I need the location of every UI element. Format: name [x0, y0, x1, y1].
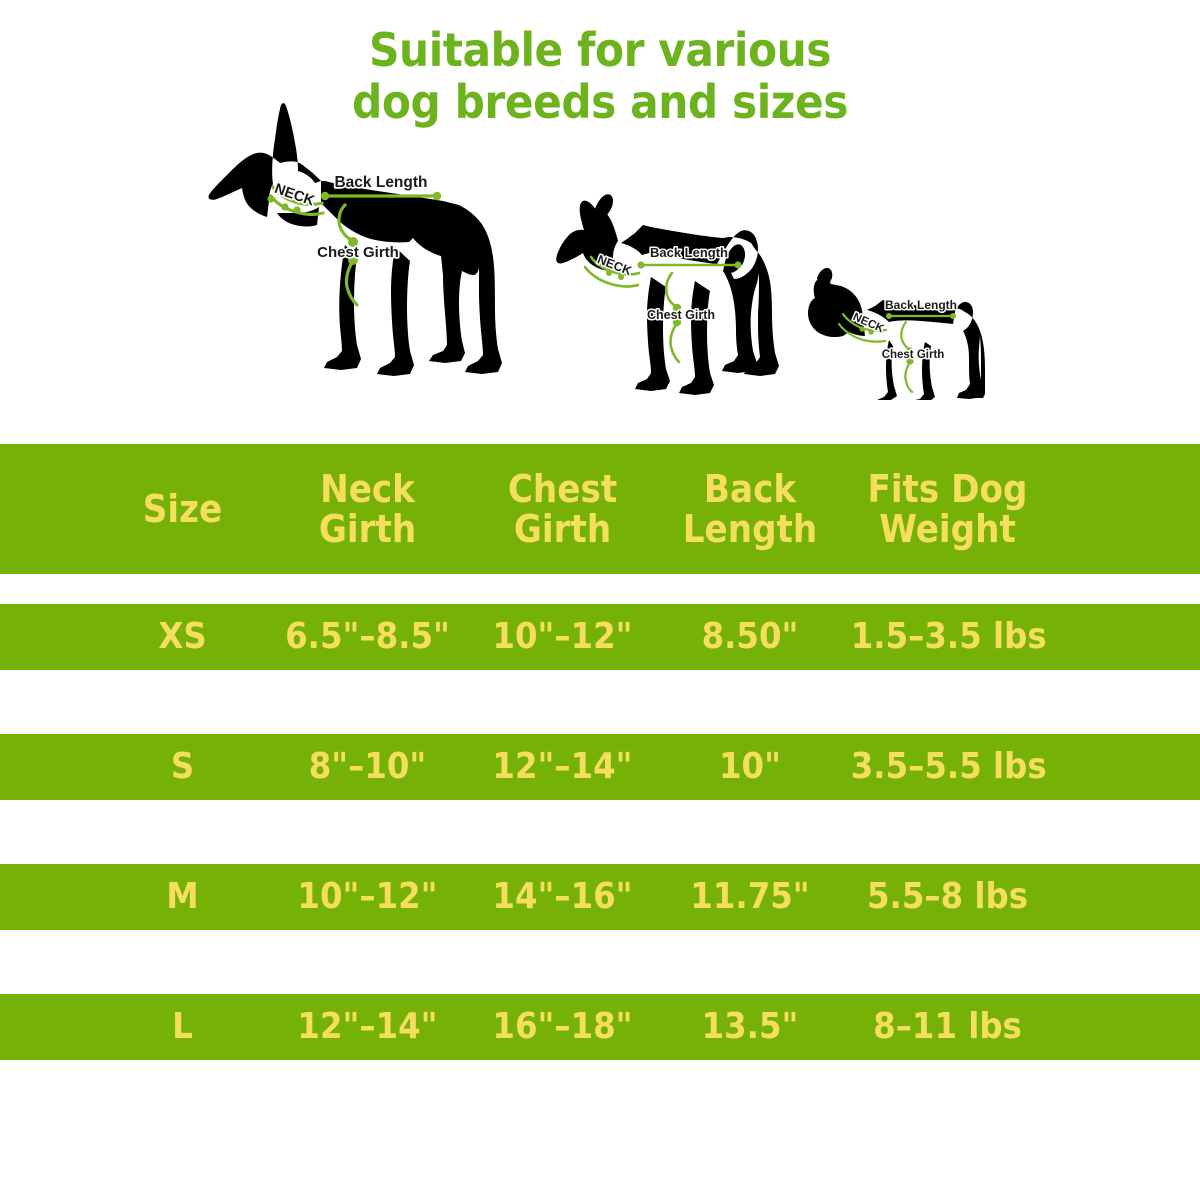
- cell-size: M: [104, 878, 262, 916]
- cell-size: XS: [104, 618, 262, 656]
- cell-fits-dog-weight: 1.5–3.5 lbs: [851, 618, 1045, 656]
- small-dog-back-length-label: Back Length: [885, 298, 957, 312]
- header-weight-line-2: Weight: [851, 509, 1045, 549]
- dog-illustrations: Back Length Chest Girth NECK: [0, 90, 1200, 410]
- cell-back-length: 10": [669, 748, 831, 786]
- header-weight-line-1: Fits Dog: [851, 469, 1045, 509]
- header-back-line-1: Back: [669, 469, 831, 509]
- cell-back-length: 11.75": [669, 878, 831, 916]
- cell-chest-girth: 16"–18": [475, 1008, 651, 1046]
- header-back-line-2: Length: [669, 509, 831, 549]
- table-header-row: Size Neck Girth Chest Girth Back Length …: [0, 444, 1200, 574]
- cell-neck-girth: 8"–10": [280, 748, 456, 786]
- medium-dog-chest-girth-label: Chest Girth: [647, 308, 715, 322]
- cell-neck-girth: 10"–12": [280, 878, 456, 916]
- header-neck-line-1: Neck: [280, 469, 456, 509]
- size-chart-table: Size Neck Girth Chest Girth Back Length …: [0, 444, 1200, 1060]
- large-dog-back-length-label: Back Length: [334, 174, 427, 191]
- small-dog-figure: Back Length Chest Girth NECK: [805, 250, 985, 400]
- cell-fits-dog-weight: 5.5–8 lbs: [851, 878, 1045, 916]
- table-row: XS 6.5"–8.5" 10"–12" 8.50" 1.5–3.5 lbs: [0, 604, 1200, 670]
- small-dog-silhouette-icon: [808, 268, 985, 400]
- cell-chest-girth: 14"–16": [475, 878, 651, 916]
- cell-chest-girth: 10"–12": [475, 618, 651, 656]
- small-dog-chest-girth-label: Chest Girth: [882, 349, 945, 361]
- cell-neck-girth: 6.5"–8.5": [280, 618, 456, 656]
- header-chest-line-1: Chest: [475, 469, 651, 509]
- medium-dog-neck-label: NECK: [595, 252, 633, 278]
- large-dog-chest-girth-label: Chest Girth: [317, 244, 399, 261]
- table-row: S 8"–10" 12"–14" 10" 3.5–5.5 lbs: [0, 734, 1200, 800]
- header-cell-chest-girth: Chest Girth: [475, 469, 651, 549]
- cell-size: L: [104, 1008, 262, 1046]
- table-row: M 10"–12" 14"–16" 11.75" 5.5–8 lbs: [0, 864, 1200, 930]
- cell-back-length: 8.50": [669, 618, 831, 656]
- cell-fits-dog-weight: 8–11 lbs: [851, 1008, 1045, 1046]
- medium-dog-back-length-label: Back Length: [650, 245, 728, 260]
- large-dog-figure: Back Length Chest Girth NECK: [185, 95, 515, 405]
- cell-fits-dog-weight: 3.5–5.5 lbs: [851, 748, 1045, 786]
- header-cell-fits-dog-weight: Fits Dog Weight: [851, 469, 1045, 549]
- medium-dog-figure: Back Length Chest Girth NECK: [555, 185, 785, 395]
- header-cell-neck-girth: Neck Girth: [280, 469, 456, 549]
- cell-back-length: 13.5": [669, 1008, 831, 1046]
- title-line-1: Suitable for various: [48, 24, 1152, 76]
- cell-neck-girth: 12"–14": [280, 1008, 456, 1046]
- table-row: L 12"–14" 16"–18" 13.5" 8–11 lbs: [0, 994, 1200, 1060]
- header-chest-line-2: Girth: [475, 509, 651, 549]
- header-neck-line-2: Girth: [280, 509, 456, 549]
- cell-chest-girth: 12"–14": [475, 748, 651, 786]
- header-cell-back-length: Back Length: [669, 469, 831, 549]
- header-cell-size: Size: [104, 489, 262, 529]
- cell-size: S: [104, 748, 262, 786]
